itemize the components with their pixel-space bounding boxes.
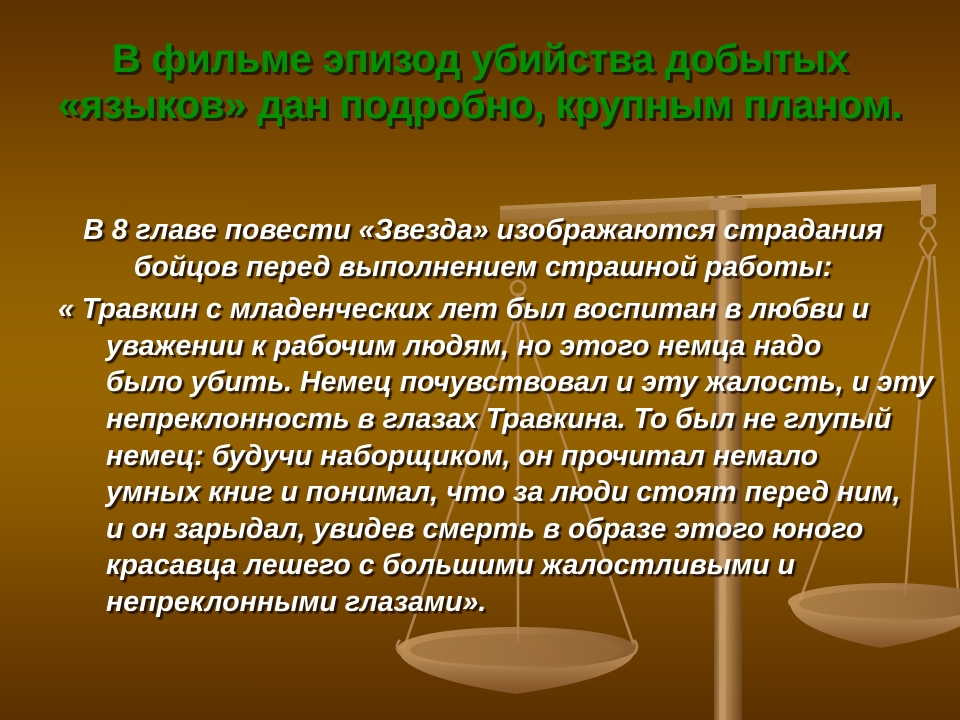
paragraph-1-line-2: бойцов перед выполнением страшной работы… bbox=[52, 249, 914, 286]
paragraph-2-line-3: было убить. Немец почувствовал и эту жал… bbox=[58, 364, 914, 401]
paragraph-2-line-8: красавца лешего с большими жалостливыми … bbox=[58, 547, 914, 584]
paragraph-1-line-1: В 8 главе повести «Звезда» изображаются … bbox=[52, 212, 914, 249]
paragraph-2-line-1: « Травкин с младенческих лет был воспита… bbox=[58, 291, 914, 328]
presentation-slide: В фильме эпизод убийства добытых «языков… bbox=[0, 0, 960, 720]
slide-body: В 8 главе повести «Звезда» изображаются … bbox=[52, 212, 914, 627]
body-paragraph-2: « Травкин с младенческих лет был воспита… bbox=[52, 291, 914, 620]
slide-title-line-1: В фильме эпизод убийства добытых bbox=[40, 36, 920, 82]
paragraph-2-line-7: и он зарыдал, увидев смерть в образе это… bbox=[58, 511, 914, 548]
paragraph-2-line-2: уважении к рабочим людям, но этого немца… bbox=[58, 328, 914, 365]
paragraph-2-line-6: умных книг и понимал, что за люди стоят … bbox=[58, 474, 914, 511]
paragraph-2-line-5: немец: будучи наборщиком, он прочитал не… bbox=[58, 438, 914, 475]
paragraph-2-line-4: непреклонность в глазах Травкина. То был… bbox=[58, 401, 914, 438]
slide-title: В фильме эпизод убийства добытых «языков… bbox=[40, 36, 920, 128]
paragraph-2-line-9: непреклонными глазами». bbox=[58, 584, 914, 621]
body-paragraph-1: В 8 главе повести «Звезда» изображаются … bbox=[52, 212, 914, 285]
slide-title-line-2: «языков» дан подробно, крупным планом. bbox=[40, 82, 920, 128]
